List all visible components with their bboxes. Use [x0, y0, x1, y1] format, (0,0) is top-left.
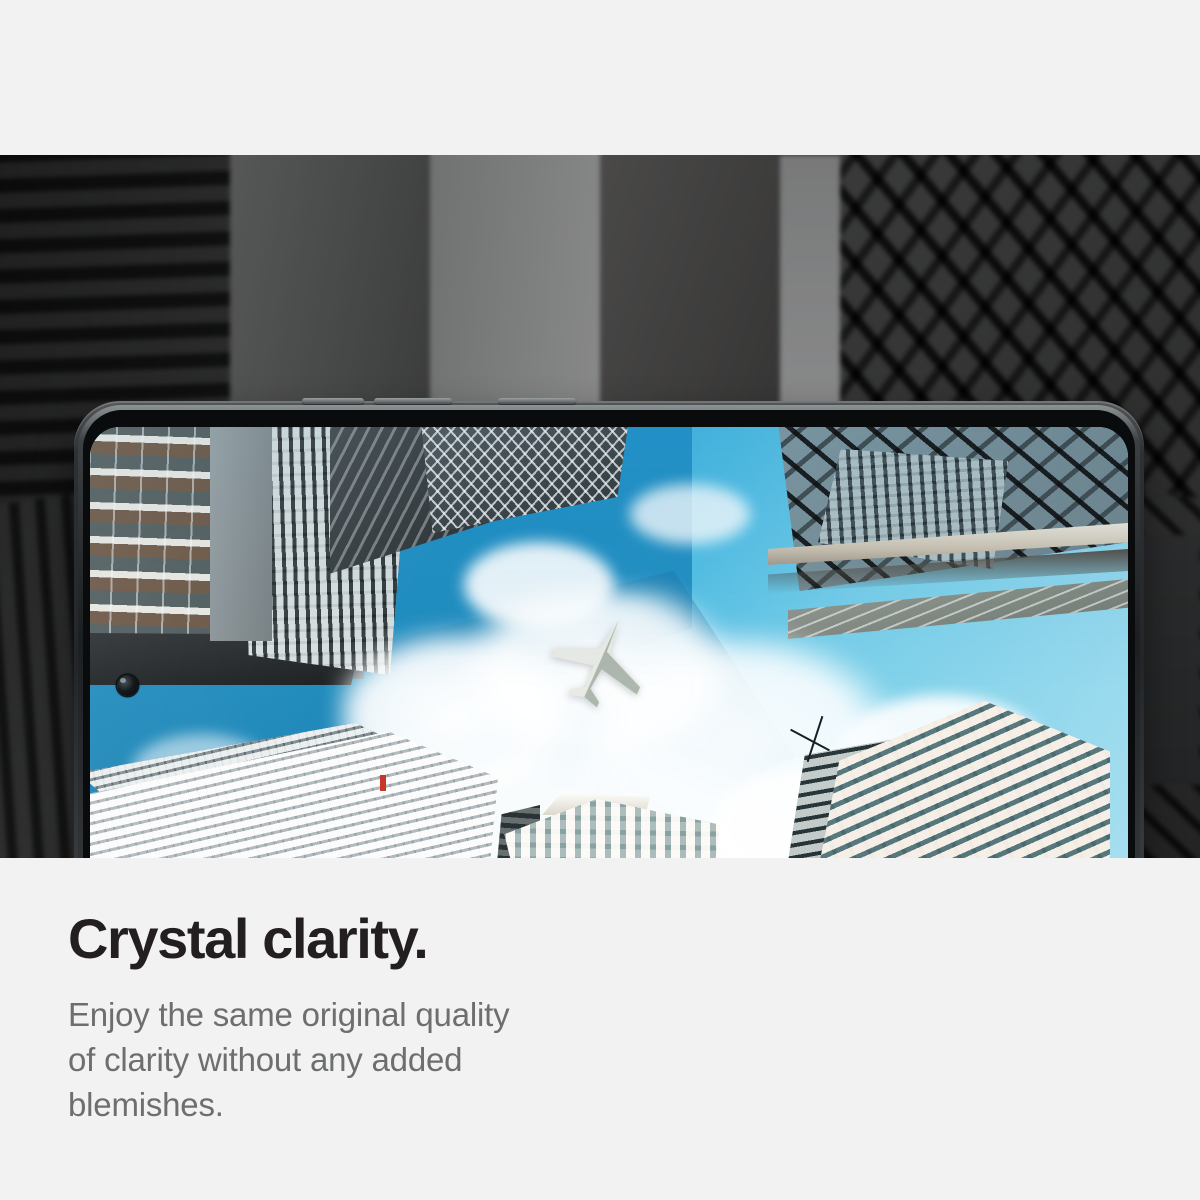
wallpaper-color-grade	[90, 427, 1128, 858]
page-title: Crystal clarity.	[68, 908, 628, 970]
volume-up-button[interactable]	[302, 398, 364, 404]
volume-down-button[interactable]	[374, 398, 452, 404]
power-button[interactable]	[498, 398, 576, 404]
screen-wallpaper	[90, 427, 1128, 858]
front-camera-icon	[117, 675, 138, 696]
phone-screen[interactable]	[90, 427, 1128, 858]
copy-block: Crystal clarity. Enjoy the same original…	[68, 908, 628, 1127]
hero-band	[0, 155, 1200, 858]
page-subtitle: Enjoy the same original quality of clari…	[68, 992, 538, 1127]
smartphone-device[interactable]	[74, 401, 1144, 858]
marketing-page: Crystal clarity. Enjoy the same original…	[0, 0, 1200, 1200]
